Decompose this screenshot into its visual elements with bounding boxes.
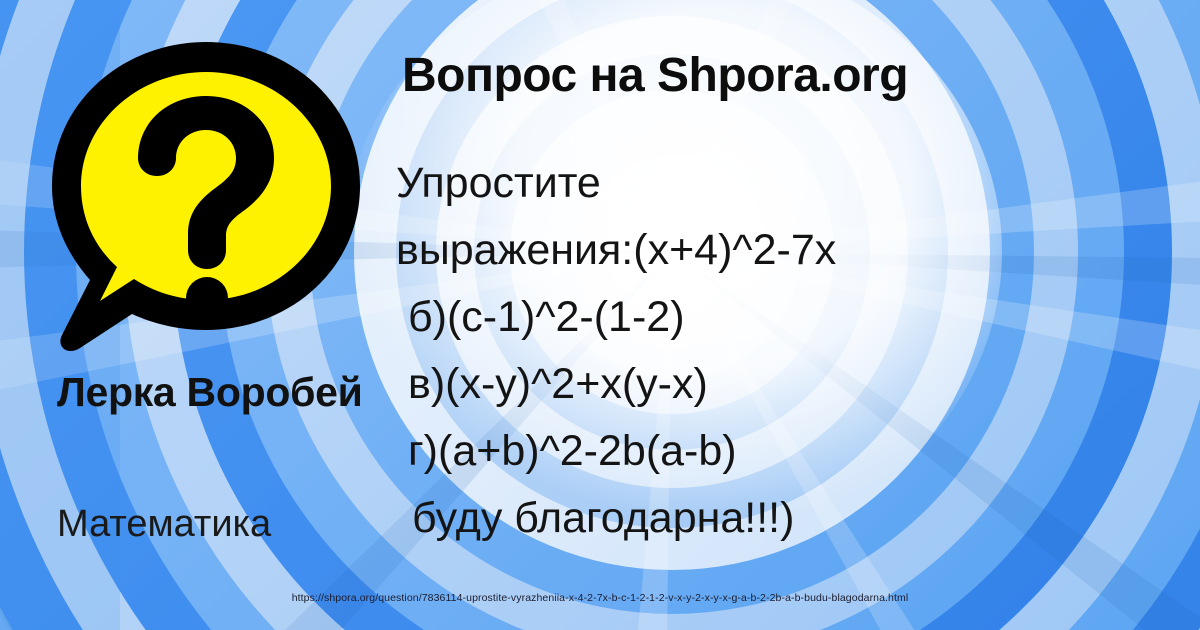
question-line: б)(с-1)^2-(1-2) bbox=[396, 284, 1186, 351]
question-speech-bubble-icon bbox=[46, 36, 366, 356]
question-text: Упростите выражения:(x+4)^2-7x б)(с-1)^2… bbox=[396, 150, 1186, 552]
source-url[interactable]: https://shpora.org/question/7836114-upro… bbox=[292, 592, 909, 604]
right-column: Вопрос на Shpora.org Упростите выражения… bbox=[392, 0, 1200, 630]
question-line: буду благодарна!!!) bbox=[396, 485, 1186, 552]
question-line: Упростите bbox=[396, 150, 1186, 217]
question-line: выражения:(x+4)^2-7x bbox=[396, 217, 1186, 284]
author-name: Лерка Воробей bbox=[57, 372, 387, 414]
source-url-bar: https://shpora.org/question/7836114-upro… bbox=[0, 588, 1200, 606]
page-title: Вопрос на Shpora.org bbox=[402, 48, 908, 103]
question-line: в)(x-y)^2+x(y-x) bbox=[396, 351, 1186, 418]
question-line: г)(a+b)^2-2b(a-b) bbox=[396, 418, 1186, 485]
question-card: Лерка Воробей Математика Вопрос на Shpor… bbox=[0, 0, 1200, 630]
content-area: Лерка Воробей Математика Вопрос на Shpor… bbox=[0, 0, 1200, 630]
subject-label: Математика bbox=[57, 505, 387, 545]
left-column: Лерка Воробей Математика bbox=[0, 0, 392, 630]
